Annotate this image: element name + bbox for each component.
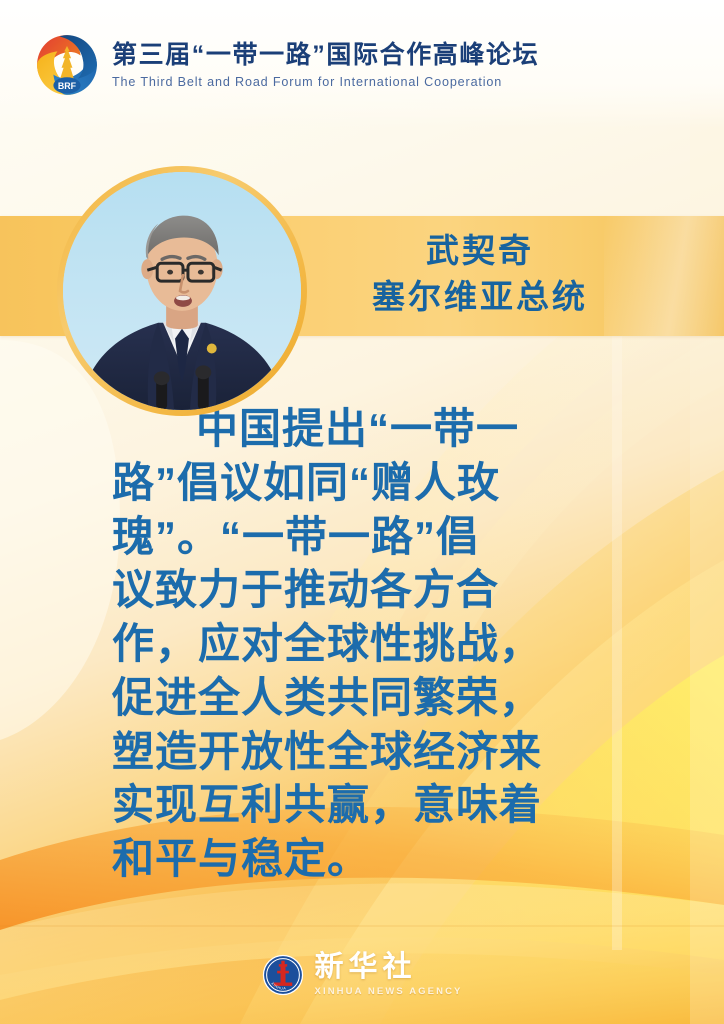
portrait-image [63, 172, 301, 410]
quote-line: 路”倡议如同“赠人玫 [112, 456, 612, 510]
quote-line: 实现互利共赢，意味着 [112, 778, 612, 832]
speaker-identity: 武契奇 塞尔维亚总统 [330, 230, 630, 319]
quote-line: 瑰”。“一带一路”倡 [112, 510, 612, 564]
quote-line: 促进全人类共同繁荣， [112, 671, 612, 725]
xinhua-wordmark: 新华社 XINHUA NEWS AGENCY [315, 953, 463, 997]
quote-line: 作，应对全球性挑战， [112, 617, 612, 671]
agency-name-cn: 新华社 [315, 953, 463, 982]
quote-line: 塑造开放性全球经济来 [112, 725, 612, 779]
speaker-name: 武契奇 [330, 230, 630, 273]
footer-bar: XINHUA 新华社 XINHUA NEWS AGENCY [0, 926, 724, 1024]
header-bar: BRF 第三届“一带一路”国际合作高峰论坛 The Third Belt and… [0, 0, 724, 128]
forum-title-en: The Third Belt and Road Forum for Intern… [112, 75, 539, 89]
poster-canvas: BRF 第三届“一带一路”国际合作高峰论坛 The Third Belt and… [0, 0, 724, 1024]
xinhua-logo: XINHUA 新华社 XINHUA NEWS AGENCY [262, 953, 463, 997]
speaker-portrait [57, 166, 307, 416]
forum-title-cn: 第三届“一带一路”国际合作高峰论坛 [112, 41, 539, 70]
agency-name-en: XINHUA NEWS AGENCY [315, 987, 463, 997]
header-title-group: 第三届“一带一路”国际合作高峰论坛 The Third Belt and Roa… [112, 39, 539, 89]
portrait-ring [57, 166, 307, 416]
quote-line: 和平与稳定。 [112, 832, 612, 886]
quote-line: 议致力于推动各方合 [112, 563, 612, 617]
svg-text:BRF: BRF [58, 81, 77, 91]
quote-text: 中国提出“一带一 路”倡议如同“赠人玫 瑰”。“一带一路”倡 议致力于推动各方合… [112, 402, 612, 886]
brf-logo-icon: BRF [33, 31, 101, 99]
speaker-title: 塞尔维亚总统 [330, 275, 630, 319]
xinhua-emblem-icon: XINHUA [262, 954, 304, 996]
